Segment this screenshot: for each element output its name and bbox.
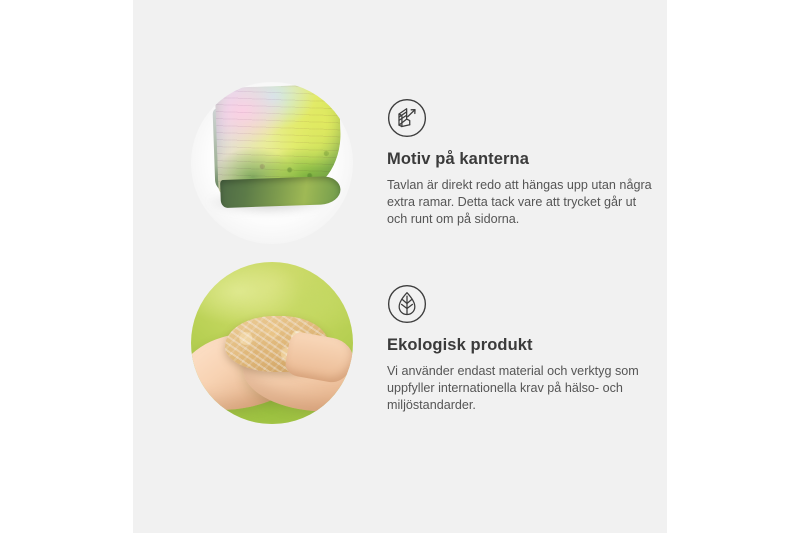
canvas-print-object [215,84,343,214]
feature-text-block: Motiv på kanterna Tavlan är direkt redo … [387,82,673,228]
product-info-page: Motiv på kanterna Tavlan är direkt redo … [0,0,800,533]
canvas-wrapped-edge-icon [387,98,427,138]
feature-description: Vi använder endast material och verktyg … [387,363,659,414]
leaf-icon [387,284,427,324]
media-circle [191,262,353,424]
feature-text-block: Ekologisk produkt Vi använder endast mat… [387,262,673,414]
feature-title: Ekologisk produkt [387,336,673,356]
canvas-wrapped-bottom-edge [220,176,341,208]
canvas-print-corner-photo [191,82,353,244]
feature-block-motiv-pa-kanterna: Motiv på kanterna Tavlan är direkt redo … [191,82,673,244]
feature-block-ekologisk-produkt: Ekologisk produkt Vi använder endast mat… [191,262,673,424]
hands-holding-wood-chips-photo [191,262,353,424]
content-panel: Motiv på kanterna Tavlan är direkt redo … [133,0,667,533]
media-circle [191,82,353,244]
feature-title: Motiv på kanterna [387,150,673,170]
feature-description: Tavlan är direkt redo att hängas upp uta… [387,177,659,228]
